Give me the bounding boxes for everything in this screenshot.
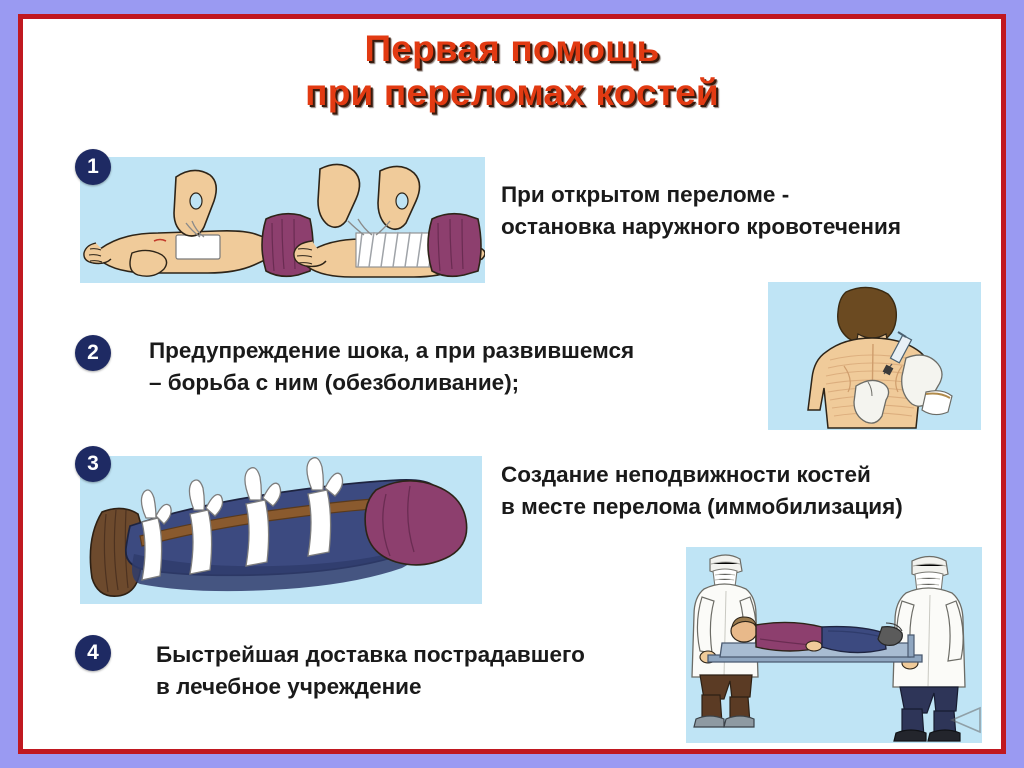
page-title: Первая помощь при переломах костей [23, 27, 1001, 114]
illustration-back-injection [768, 282, 981, 430]
step-text-1: При открытом переломе - остановка наружн… [501, 179, 971, 243]
bandaging-forearm-icon [80, 157, 485, 283]
slide-frame: Первая помощь при переломах костей [18, 14, 1006, 754]
step-badge-1: 1 [75, 149, 111, 185]
illustration-bandaging-forearm [80, 157, 485, 283]
illustration-splinted-leg [80, 456, 482, 604]
step-text-4: Быстрейшая доставка пострадавшего в лече… [156, 639, 696, 703]
previous-slide-button[interactable] [949, 705, 983, 735]
step-badge-2: 2 [75, 335, 111, 371]
slide-canvas: Первая помощь при переломах костей [23, 19, 1001, 749]
back-injection-icon [768, 282, 981, 430]
step-badge-3: 3 [75, 446, 111, 482]
step-text-2: Предупреждение шока, а при развившемся –… [149, 335, 749, 399]
triangle-left-icon [949, 705, 983, 735]
stretcher-transport-icon [686, 547, 982, 743]
step-text-3: Создание неподвижности костей в месте пе… [501, 459, 971, 523]
illustration-stretcher-transport [686, 547, 982, 743]
splinted-leg-icon [80, 456, 482, 604]
step-badge-4: 4 [75, 635, 111, 671]
